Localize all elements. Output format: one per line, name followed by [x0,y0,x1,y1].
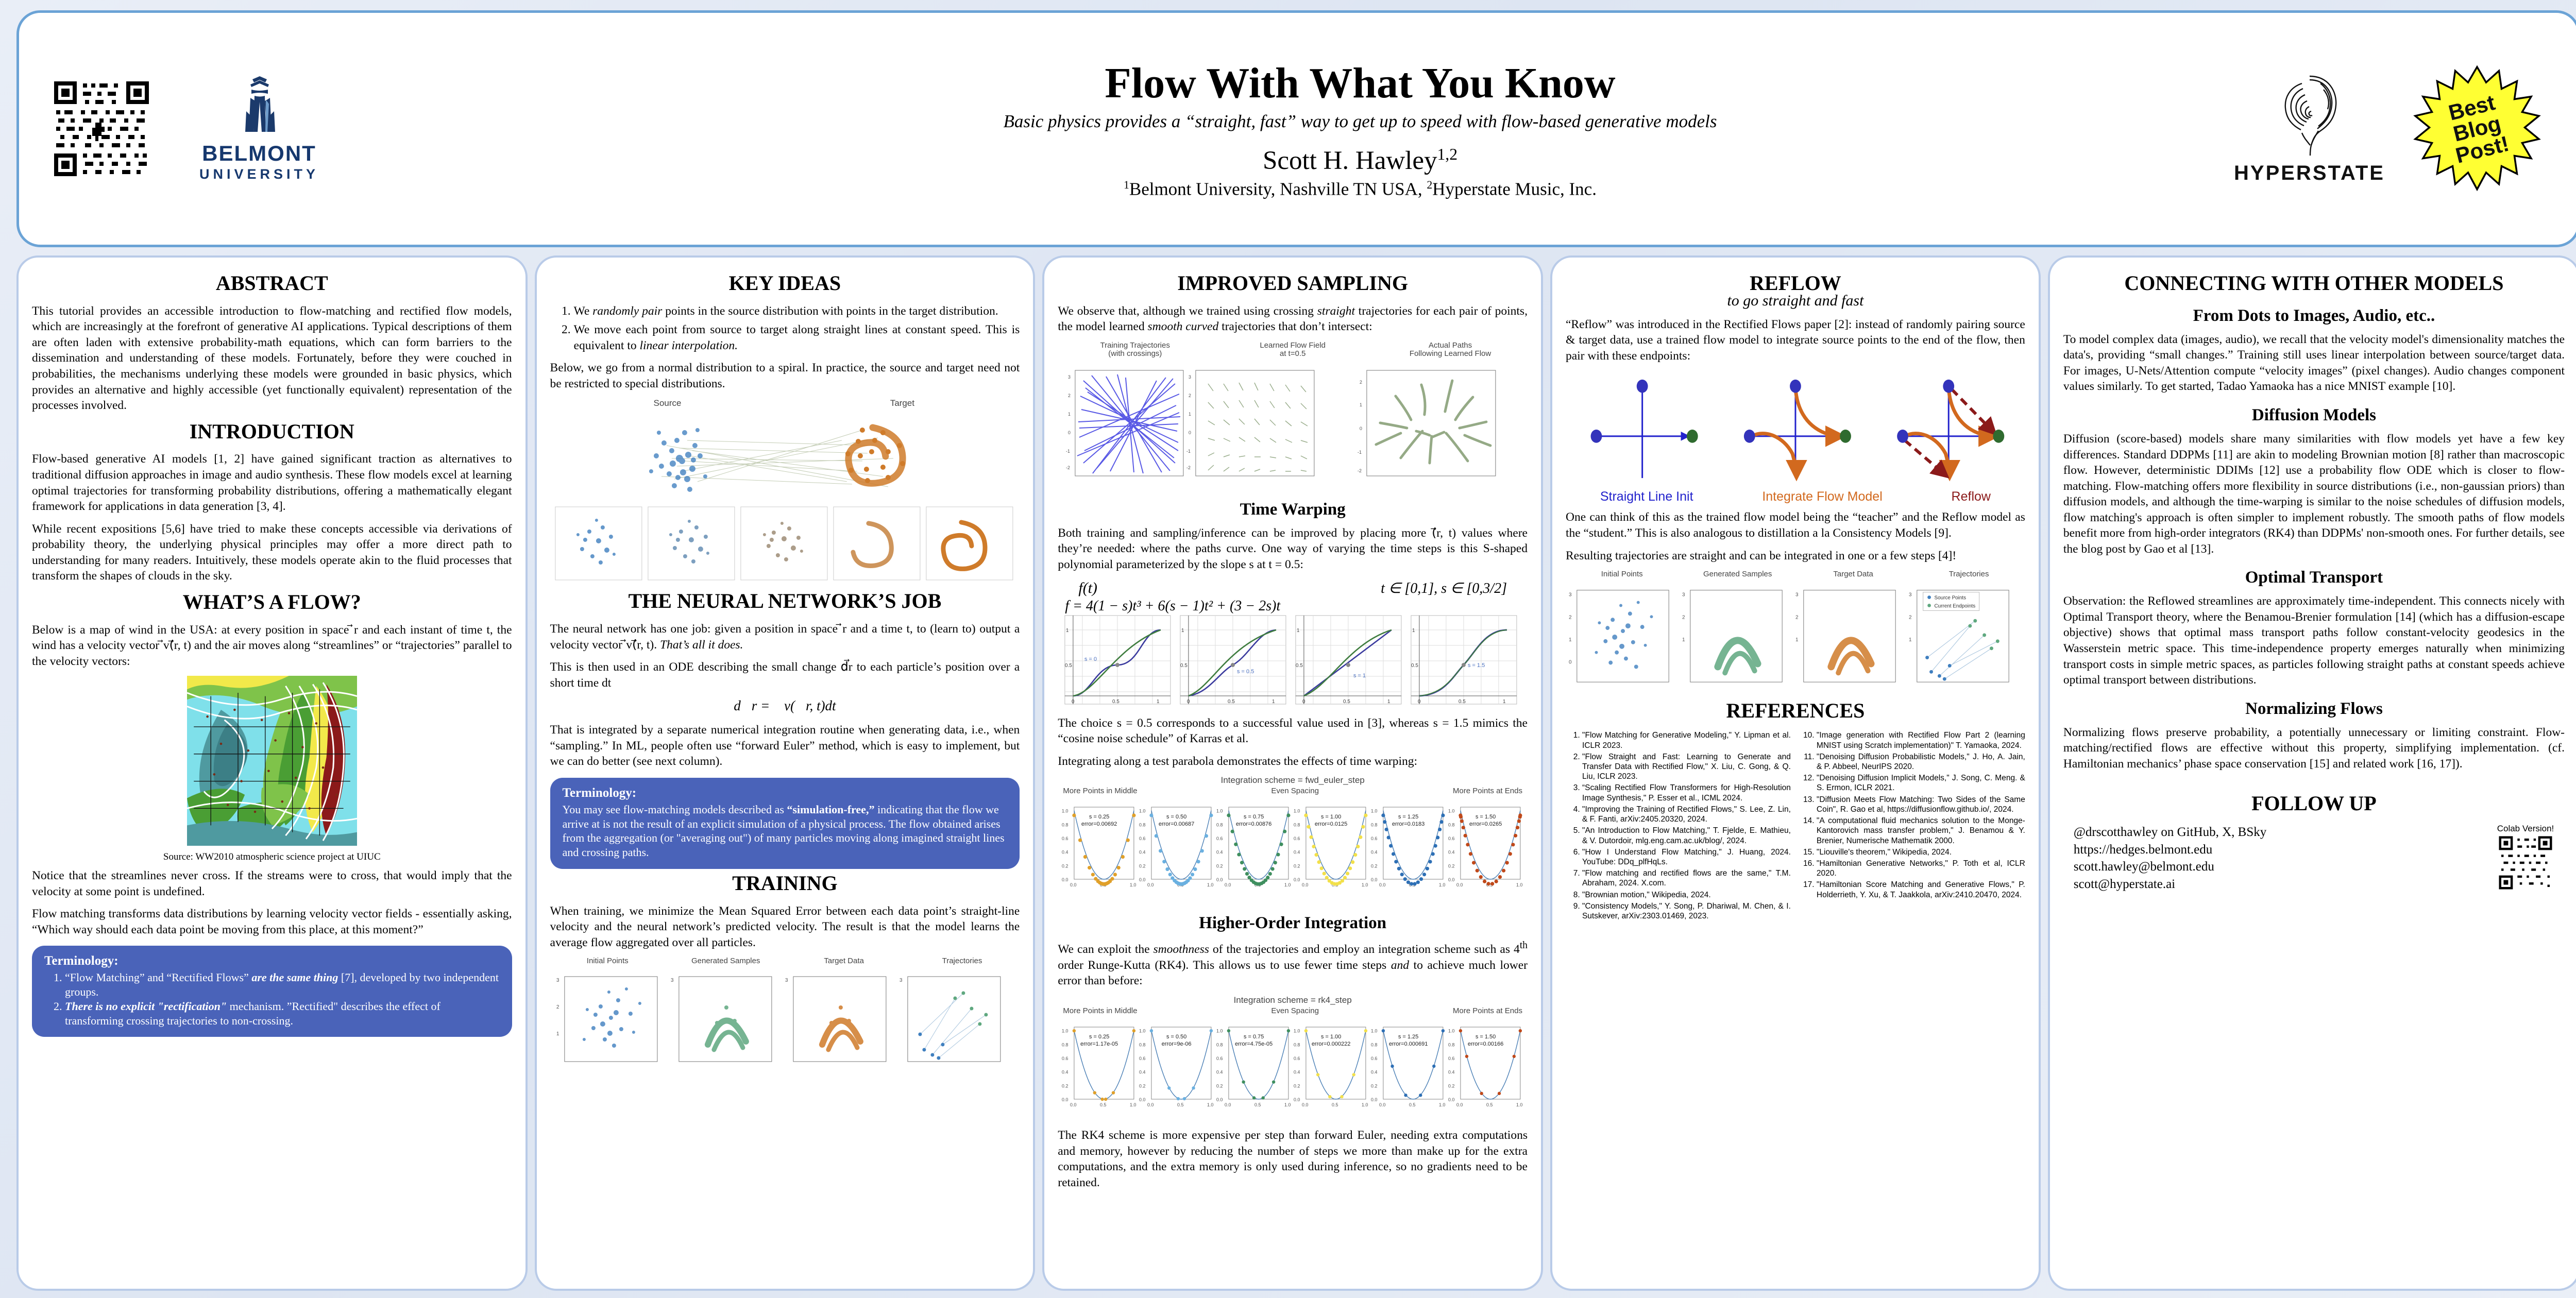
svg-text:-2: -2 [1066,465,1070,470]
svg-text:3: 3 [556,978,559,983]
nn-paragraph-2: This is then used in an ODE describing t… [550,659,1020,691]
ode-equation: d⃗r = ⃗v(⃗r, t)dt [550,698,1020,714]
source-to-target-pairing-plot [550,409,1020,497]
svg-text:-1: -1 [1187,449,1191,454]
svg-text:0.4: 0.4 [1216,850,1223,855]
svg-text:0.2: 0.2 [1216,864,1223,869]
nn-paragraph-3: That is integrated by a separate numeric… [550,722,1020,770]
svg-text:3: 3 [670,978,673,983]
svg-text:0.0: 0.0 [1147,882,1154,887]
svg-text:0.4: 0.4 [1216,1070,1223,1075]
svg-text:0.8: 0.8 [1062,1042,1069,1047]
svg-text:0.4: 0.4 [1448,850,1455,855]
training-panel-title-2: Target Data [788,957,901,966]
svg-text:1.0: 1.0 [1516,1102,1523,1107]
svg-text:1.0: 1.0 [1294,809,1300,814]
svg-text:error=0.00876: error=0.00876 [1236,821,1272,827]
svg-text:1.0: 1.0 [1362,1102,1368,1107]
abstract-text: This tutorial provides an accessible int… [32,303,512,414]
reference-item: "An Introduction to Flow Matching," T. F… [1582,826,1791,845]
svg-text:0.2: 0.2 [1294,864,1300,869]
reference-item: "Improving the Training of Rectified Flo… [1582,805,1791,824]
rk4-anno-1: Even Spacing [1271,1007,1319,1016]
time-warping-paragraph: Both training and sampling/inference can… [1058,525,1528,573]
svg-text:3: 3 [899,978,902,983]
reflow-panel-title-3: Trajectories [1914,570,2024,579]
hoi-e: and [1391,959,1409,972]
term2b: “simulation-free,” [787,803,874,816]
affil2: Hyperstate Music, Inc. [1432,179,1597,199]
svg-text:0.5: 0.5 [1112,699,1120,705]
reference-item: "Flow matching and rectified flows are t… [1582,868,1791,888]
svg-text:3: 3 [1569,592,1572,597]
is-p1-d: smooth curved [1147,320,1218,333]
rk4-parabola-plot: 0.00.20.40.60.81.00.00.51.0s = 0.25error… [1058,1017,1528,1120]
svg-text:0.6: 0.6 [1294,836,1300,841]
svg-text:0.0: 0.0 [1294,1097,1300,1102]
training-panel-title-0: Initial Points [551,957,664,966]
affil2-sup: 2 [1427,179,1432,191]
from-dots-heading: From Dots to Images, Audio, etc.. [2063,306,2565,326]
svg-text:s = 1: s = 1 [1353,673,1366,679]
whats-a-flow-heading: WHAT’S A FLOW? [32,591,512,614]
reflow-panel-title-1: Generated Samples [1683,570,1793,579]
poster-subtitle: Basic physics provides a “straight, fast… [586,111,2134,132]
time-warping-curves-figure: s = 0 0 0.5 1 1 0.5 [1058,612,1528,710]
svg-text:0.5: 0.5 [1180,663,1188,669]
integrating-paragraph: Integrating along a test parabola demons… [1058,754,1528,770]
svg-text:s = 0: s = 0 [1084,656,1097,662]
follow-line-2[interactable]: scott.hawley@belmont.edu [2074,858,2266,876]
svg-text:1.0: 1.0 [1139,1029,1146,1034]
svg-text:2: 2 [1360,380,1362,385]
figure-label-target: Target [796,399,1008,408]
column-connecting: CONNECTING WITH OTHER MODELS From Dots t… [2048,255,2576,1291]
svg-text:0.0: 0.0 [1294,877,1300,882]
wind-map-image [187,676,357,846]
nn-p1-b: That’s all it does. [660,638,743,652]
svg-text:0: 0 [1302,699,1306,705]
svg-text:error=0.0183: error=0.0183 [1392,821,1425,827]
svg-text:s = 0.75: s = 0.75 [1244,814,1264,820]
svg-text:1: 1 [1181,628,1184,634]
wind-map-figure: Source: WW2010 atmospheric science proje… [32,676,512,863]
svg-text:0.5: 0.5 [1177,1102,1184,1107]
interpolation-sequence-plot [550,505,1020,582]
svg-text:0.0: 0.0 [1379,1102,1386,1107]
svg-text:0.6: 0.6 [1139,836,1146,841]
svg-text:0.6: 0.6 [1294,1056,1300,1061]
svg-text:3: 3 [1068,374,1071,380]
rk4-anno-0: More Points in Middle [1063,1007,1137,1016]
nn-p1-a: The neural network has one job: given a … [550,622,1020,652]
hoi-c: of the trajectories and employ an integr… [1209,943,1520,956]
svg-text:0.4: 0.4 [1139,850,1146,855]
svg-text:0.2: 0.2 [1448,864,1455,869]
poster-columns: ABSTRACT This tutorial provides an acces… [9,255,2576,1291]
references-lists: "Flow Matching for Generative Modeling,"… [1566,730,2025,923]
svg-text:2: 2 [556,1004,559,1010]
belmont-tower-icon [221,75,298,142]
optimal-transport-heading: Optimal Transport [2063,568,2565,587]
svg-text:1: 1 [1360,402,1362,407]
svg-text:s = 0.25: s = 0.25 [1089,814,1109,820]
header-left-logos: BELMONT UNIVERSITY [19,75,586,182]
parabola-panel: 0.00.20.40.60.81.00.00.51.0s = 1.50error… [1448,807,1523,887]
flow-paragraph-2: Notice that the streamlines never cross.… [32,868,512,899]
key-ideas-paragraph: Below, we go from a normal distribution … [550,360,1020,391]
svg-text:0: 0 [1360,426,1362,431]
svg-text:error=0.000222: error=0.000222 [1312,1041,1351,1047]
training-panels-figure: Initial Points Generated Samples Target … [550,957,1020,1070]
svg-text:0: 0 [1072,699,1075,705]
terminology-item-1: “Flow Matching” and “Rectified Flows” ar… [65,970,500,999]
reflow-paragraph-3: Resulting trajectories are straight and … [1566,548,2025,564]
reflow-label-2: Reflow [1952,489,1991,504]
svg-text:0.8: 0.8 [1448,823,1455,828]
svg-text:0.2: 0.2 [1139,1083,1146,1088]
svg-text:s = 1.50: s = 1.50 [1476,814,1496,820]
key-ideas-list: We randomly pair points in the source di… [550,303,1020,354]
qr-code-icon[interactable] [50,77,153,180]
hoi-sup: th [1520,940,1528,951]
svg-text:0.0: 0.0 [1225,882,1231,887]
svg-text:1.0: 1.0 [1139,809,1146,814]
svg-text:1.0: 1.0 [1207,882,1214,887]
svg-text:0.6: 0.6 [1371,836,1378,841]
time-warping-heading: Time Warping [1058,500,1528,519]
fwd-euler-anno-2: More Points at Ends [1453,787,1522,796]
svg-text:3: 3 [1189,374,1191,380]
reflow-label-0: Straight Line Init [1600,489,1693,504]
reference-item: "Consistency Models," Y. Song, P. Dhariw… [1582,901,1791,921]
svg-text:0.5: 0.5 [1486,1102,1493,1107]
fwd-euler-title: Integration scheme = fwd_euler_step [1058,776,1528,785]
terminology-title-2: Terminology: [563,786,1008,800]
reflow-panels-plot: 3210 321 321 321 [1566,580,2025,689]
reflow-panel-title-2: Target Data [1798,570,1908,579]
svg-text:0.2: 0.2 [1139,864,1146,869]
svg-text:Source Points: Source Points [1934,595,1966,601]
reflow-diagram-figure: Straight Line Init Integrate Flow Model … [1566,370,2025,504]
tw-eq-domain: t ∈ [0,1], s ∈ [0,3/2] [1381,579,1507,597]
svg-text:0.5: 0.5 [1411,663,1418,669]
svg-text:0.0: 0.0 [1456,882,1463,887]
parabola-panel: 0.00.20.40.60.81.00.00.51.0s = 0.75error… [1216,1027,1291,1107]
follow-line-3[interactable]: scott@hyperstate.ai [2074,876,2266,893]
follow-up-row: @drscotthawley on GitHub, X, BSky https:… [2063,824,2565,894]
parabola-panel: 0.00.20.40.60.81.00.00.51.0s = 0.50error… [1139,807,1214,887]
svg-text:0.2: 0.2 [1216,1083,1223,1088]
svg-text:0.5: 0.5 [1332,1102,1338,1107]
svg-text:0.5: 0.5 [1343,699,1350,705]
term1-part-a: “Flow Matching” and “Rectified Flows” [65,971,251,984]
svg-text:-1: -1 [1066,449,1070,454]
svg-text:3: 3 [1909,592,1912,597]
svg-text:0.6: 0.6 [1216,836,1223,841]
terminology-item-2: There is no explicit "rectification" mec… [65,999,500,1028]
nn-paragraph-1: The neural network has one job: given a … [550,621,1020,653]
svg-text:1.0: 1.0 [1439,1102,1446,1107]
svg-text:1.0: 1.0 [1284,1102,1291,1107]
terminology-body-2: You may see flow-matching models describ… [563,802,1008,860]
reference-item: "Denoising Diffusion Probabilistic Model… [1817,752,2025,772]
training-heading: TRAINING [550,872,1020,895]
svg-text:0.8: 0.8 [1216,823,1223,828]
poster-header: BELMONT UNIVERSITY Flow With What You Kn… [16,10,2576,247]
svg-text:error=1.17e-05: error=1.17e-05 [1080,1041,1118,1047]
svg-text:s = 1.00: s = 1.00 [1321,1034,1341,1040]
svg-text:error=0.0125: error=0.0125 [1315,821,1347,827]
interpolation-strip-figure [550,505,1020,585]
column-abstract-intro: ABSTRACT This tutorial provides an acces… [16,255,528,1291]
svg-text:0: 0 [1569,659,1572,665]
parabola-panel: 0.00.20.40.60.81.00.00.51.0s = 1.25error… [1371,1027,1446,1107]
svg-text:0.4: 0.4 [1294,850,1300,855]
svg-text:1: 1 [1066,628,1069,634]
svg-text:3: 3 [1682,592,1685,597]
parabola-panel: 0.00.20.40.60.81.00.00.51.0s = 1.00error… [1294,1027,1368,1107]
svg-text:1.0: 1.0 [1516,882,1523,887]
parabola-panel: 0.00.20.40.60.81.00.00.51.0s = 1.25error… [1371,807,1446,887]
source-target-figure: Source Target [550,399,1020,500]
svg-text:0.0: 0.0 [1379,882,1386,887]
svg-text:0.0: 0.0 [1062,1097,1069,1102]
svg-text:0.2: 0.2 [1294,1083,1300,1088]
svg-text:0.5: 0.5 [1255,1102,1261,1107]
key1-b: randomly pair [592,304,662,318]
svg-text:0.6: 0.6 [1448,836,1455,841]
svg-text:0.8: 0.8 [1294,1042,1300,1047]
svg-text:1.0: 1.0 [1371,1029,1378,1034]
column-key-ideas: KEY IDEAS We randomly pair points in the… [535,255,1036,1291]
svg-text:1: 1 [1682,637,1685,642]
svg-text:0.6: 0.6 [1139,1056,1146,1061]
is-p1-e: trajectories that don’t intersect: [1218,320,1372,333]
parabola-panel: 0.00.20.40.60.81.00.00.51.0s = 1.00error… [1294,807,1368,887]
is-fig-title-0: Training Trajectories (with crossings) [1060,341,1210,358]
svg-text:0.0: 0.0 [1448,1097,1455,1102]
abstract-heading: ABSTRACT [32,272,512,295]
svg-text:0.2: 0.2 [1371,1083,1378,1088]
follow-line-1[interactable]: https://hedges.belmont.edu [2074,841,2266,859]
svg-text:0: 0 [1189,430,1191,435]
fwd-euler-figure: Integration scheme = fwd_euler_step More… [1058,776,1528,902]
colab-qr-code-icon[interactable] [2497,834,2554,892]
svg-text:0.8: 0.8 [1371,823,1378,828]
terminology-title-1: Terminology: [44,954,500,968]
hyperstate-spiral-head-icon [2271,73,2348,158]
svg-text:2: 2 [1189,393,1191,398]
connecting-heading: CONNECTING WITH OTHER MODELS [2063,272,2565,295]
term2-part-a: There is no explicit "rectification" [65,1000,227,1013]
svg-text:0.2: 0.2 [1448,1083,1455,1088]
key-idea-2: We move each point from source to target… [574,322,1020,353]
svg-text:0.8: 0.8 [1216,1042,1223,1047]
key1-a: We [574,304,593,318]
svg-text:1.0: 1.0 [1207,1102,1214,1107]
svg-text:-2: -2 [1358,468,1362,473]
references-right-list: "Image generation with Rectified Flow Pa… [1800,730,2025,923]
svg-text:1: 1 [1189,412,1191,417]
svg-text:error=4.75e-05: error=4.75e-05 [1235,1041,1273,1047]
rk4-figure: Integration scheme = rk4_step More Point… [1058,996,1528,1122]
parabola-panel: 0.00.20.40.60.81.00.00.51.0s = 1.50error… [1448,1027,1523,1107]
svg-text:0.4: 0.4 [1448,1070,1455,1075]
follow-line-0[interactable]: @drscotthawley on GitHub, X, BSky [2074,824,2266,841]
svg-text:0.0: 0.0 [1216,1097,1223,1102]
svg-text:s = 0.5: s = 0.5 [1237,669,1254,675]
svg-text:1.0: 1.0 [1294,1029,1300,1034]
svg-text:1: 1 [1569,637,1572,642]
svg-text:1.0: 1.0 [1439,882,1446,887]
svg-text:1.0: 1.0 [1448,1029,1455,1034]
svg-text:1.0: 1.0 [1371,809,1378,814]
svg-text:0.2: 0.2 [1371,864,1378,869]
reference-item: "Flow Matching for Generative Modeling,"… [1582,730,1791,750]
svg-text:error=0.000691: error=0.000691 [1389,1041,1428,1047]
terminology-box-1: Terminology: “Flow Matching” and “Rectif… [32,946,512,1037]
svg-text:0: 0 [1068,430,1071,435]
author-superscript: 1,2 [1437,145,1458,163]
fwd-euler-anno-1: Even Spacing [1271,787,1319,796]
affil1: Belmont University, Nashville TN USA, [1129,179,1427,199]
svg-text:2: 2 [1909,614,1912,620]
svg-text:0: 0 [1418,699,1421,705]
svg-text:s = 1.00: s = 1.00 [1321,814,1341,820]
reference-item: "Denoising Diffusion Implicit Models," J… [1817,773,2025,793]
intro-paragraph-2: While recent expositions [5,6] have trie… [32,521,512,584]
svg-text:s = 1.25: s = 1.25 [1398,814,1418,820]
svg-text:1: 1 [1272,699,1275,705]
term2a: You may see flow-matching models describ… [563,803,787,816]
svg-text:1.0: 1.0 [1062,809,1069,814]
figure-label-source: Source [562,399,773,408]
svg-text:1.0: 1.0 [1216,809,1223,814]
svg-text:0.5: 0.5 [1459,699,1466,705]
svg-text:error=0.00692: error=0.00692 [1081,821,1117,827]
header-right-logos: HYPERSTATE Best Blog Post! [2134,64,2576,193]
svg-text:0.5: 0.5 [1100,1102,1107,1107]
svg-text:1: 1 [1412,628,1415,634]
intro-paragraph-1: Flow-based generative AI models [1, 2] h… [32,451,512,514]
reflow-panels-figure: Initial Points Generated Samples Target … [1566,570,2025,691]
header-titles: Flow With What You Know Basic physics pr… [586,58,2134,200]
column-reflow: REFLOW to go straight and fast “Reflow” … [1550,255,2041,1291]
svg-text:2: 2 [1682,614,1685,620]
hyperstate-logo: HYPERSTATE [2234,73,2385,185]
reflow-paragraph-2: One can think of this as the trained flo… [1566,509,2025,541]
terminology-box-2: Terminology: You may see flow-matching m… [550,778,1020,869]
training-panels-plot: 321 333 [550,967,1020,1068]
colab-label: Colab Version! [2497,824,2554,834]
svg-text:3: 3 [1795,592,1799,597]
is-fig-title-2: Actual Paths Following Learned Flow [1375,341,1526,358]
improved-sampling-figure: Training Trajectories (with crossings) L… [1058,341,1528,489]
svg-text:1.0: 1.0 [1284,882,1291,887]
svg-text:s = 1.25: s = 1.25 [1398,1034,1418,1040]
svg-text:0.0: 0.0 [1448,877,1455,882]
svg-text:0.4: 0.4 [1139,1070,1146,1075]
svg-text:s = 1.50: s = 1.50 [1476,1034,1496,1040]
hoi-a: We can exploit the [1058,943,1153,956]
choice-of-s-paragraph: The choice s = 0.5 corresponds to a succ… [1058,715,1528,747]
svg-text:0.8: 0.8 [1139,823,1146,828]
svg-text:0.5: 0.5 [1409,1102,1416,1107]
svg-text:1: 1 [1297,628,1300,634]
svg-text:s = 0.50: s = 0.50 [1166,1034,1187,1040]
reference-item: "Flow Straight and Fast: Learning to Gen… [1582,752,1791,782]
key2-b: linear interpolation. [639,339,738,352]
svg-text:0.6: 0.6 [1448,1056,1455,1061]
normalizing-flows-heading: Normalizing Flows [2063,699,2565,719]
wind-map-caption: Source: WW2010 atmospheric science proje… [32,851,512,863]
svg-text:0.6: 0.6 [1371,1056,1378,1061]
svg-text:1: 1 [1909,637,1912,642]
svg-text:0.8: 0.8 [1139,1042,1146,1047]
svg-text:-1: -1 [1358,450,1362,455]
rk4-title: Integration scheme = rk4_step [1058,996,1528,1005]
svg-text:Current Endpoints: Current Endpoints [1934,603,1975,609]
poster-title: Flow With What You Know [586,61,2134,106]
time-warping-curves-plot: s = 0 0 0.5 1 1 0.5 [1058,612,1528,708]
is-p1-a: We observe that, although we trained usi… [1058,304,1317,318]
svg-text:s = 1.5: s = 1.5 [1468,662,1485,669]
svg-text:1: 1 [1795,637,1799,642]
svg-text:error=0.0265: error=0.0265 [1469,821,1502,827]
svg-text:0.0: 0.0 [1302,1102,1309,1107]
references-left-list: "Flow Matching for Generative Modeling,"… [1566,730,1791,923]
svg-text:1.0: 1.0 [1362,882,1368,887]
parabola-panel: 0.00.20.40.60.81.00.00.51.0s = 0.75error… [1216,807,1291,887]
svg-text:0.6: 0.6 [1216,1056,1223,1061]
improved-sampling-plot: 321 0-1-2 321 0-1-2 210 -1-2 [1058,360,1528,486]
belmont-name: BELMONT [177,142,342,165]
svg-text:0.0: 0.0 [1371,877,1378,882]
svg-text:2: 2 [1795,614,1799,620]
reflow-diagram-labels: Straight Line Init Integrate Flow Model … [1566,489,2025,504]
poster-root: BELMONT UNIVERSITY Flow With What You Kn… [0,0,2576,1298]
key-ideas-heading: KEY IDEAS [550,272,1020,295]
svg-text:0.6: 0.6 [1062,836,1069,841]
fwd-euler-anno-0: More Points in Middle [1063,787,1137,796]
svg-text:0.0: 0.0 [1139,877,1146,882]
reflow-diagram [1566,370,2025,489]
svg-text:0.6: 0.6 [1062,1056,1069,1061]
svg-text:2: 2 [1068,393,1071,398]
svg-text:0.4: 0.4 [1062,1070,1069,1075]
belmont-logo: BELMONT UNIVERSITY [177,75,342,182]
svg-text:0.0: 0.0 [1139,1097,1146,1102]
svg-text:error=0.00166: error=0.00166 [1468,1041,1503,1047]
references-heading: REFERENCES [1566,699,2025,723]
svg-text:1: 1 [1068,412,1071,417]
svg-text:0.0: 0.0 [1371,1097,1378,1102]
from-dots-paragraph: To model complex data (images, audio), w… [2063,332,2565,395]
svg-text:0: 0 [1187,699,1190,705]
svg-text:0.0: 0.0 [1456,1102,1463,1107]
training-panel-title-3: Trajectories [906,957,1019,966]
reflow-label-1: Integrate Flow Model [1762,489,1882,504]
author-line: Scott H. Hawley1,2 [586,145,2134,176]
svg-text:0.4: 0.4 [1294,1070,1300,1075]
svg-text:3: 3 [785,978,788,983]
improved-sampling-heading: IMPROVED SAMPLING [1058,272,1528,295]
follow-up-heading: FOLLOW UP [2063,792,2565,815]
svg-text:1: 1 [1387,699,1391,705]
flow-paragraph-3: Flow matching transforms data distributi… [32,906,512,937]
hoi-paragraph: We can exploit the smoothness of the tra… [1058,939,1528,988]
